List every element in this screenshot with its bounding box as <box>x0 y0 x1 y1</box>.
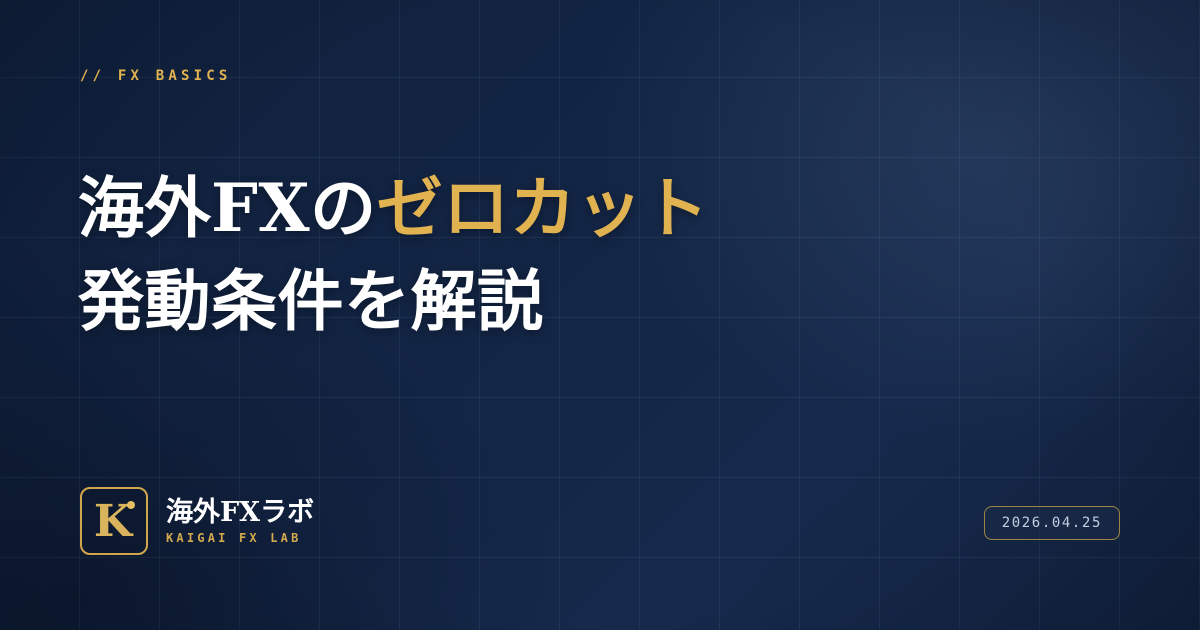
date-badge-label: 2026.04.25 <box>1002 515 1102 531</box>
page-title-highlight: ゼロカット <box>377 169 710 247</box>
page-title-line-2: 発動条件を解説 <box>78 255 1088 348</box>
brand-text-block: 海外FXラボ KAIGAI FX LAB <box>166 497 314 545</box>
date-badge: 2026.04.25 <box>984 506 1120 540</box>
ogp-card: // FX BASICS 海外FXのゼロカット 発動条件を解説 K 海外FXラボ… <box>0 0 1200 630</box>
eyebrow-label: // FX BASICS <box>80 68 232 84</box>
logo-icon: K <box>80 487 148 555</box>
brand-subtitle: KAIGAI FX LAB <box>166 531 314 545</box>
page-title-line-1: 海外FXのゼロカット <box>78 162 1088 255</box>
logo-dot-icon <box>127 501 135 509</box>
brand-name: 海外FXラボ <box>166 497 314 529</box>
page-title: 海外FXのゼロカット 発動条件を解説 <box>78 162 1088 348</box>
brand-lockup: K 海外FXラボ KAIGAI FX LAB <box>80 487 314 555</box>
logo-letter: K <box>82 489 146 553</box>
page-title-line-1-plain: 海外FXの <box>78 169 377 247</box>
